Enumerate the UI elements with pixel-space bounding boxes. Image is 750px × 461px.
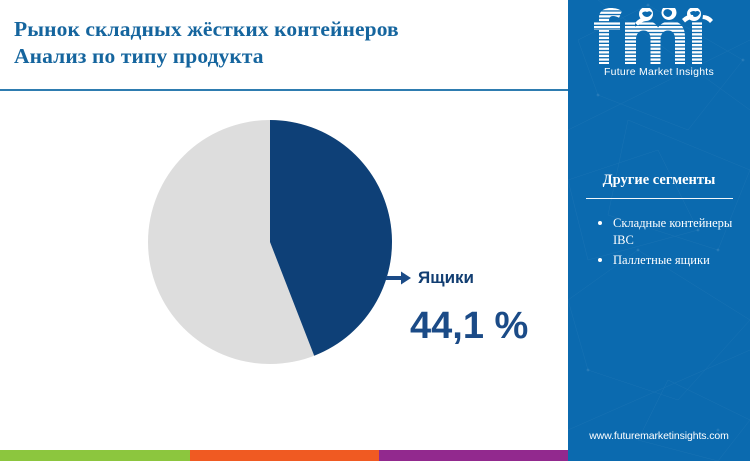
pie-chart-area: Ящики 44,1 % Ящики Все другие сегменты [0,100,568,430]
arrow-right-icon [386,270,412,286]
list-item: Паллетные ящики [598,252,740,269]
slide-canvas: Рынок складных жёстких контейнеров Анали… [0,0,750,461]
website-url[interactable]: www.futuremarketinsights.com [568,430,750,442]
pie-callout-value: 44,1 % [410,304,561,348]
pie-callout-row: Ящики [386,266,561,290]
page-title-line-1: Рынок складных жёстких контейнеров [14,16,554,43]
other-segments-title: Другие сегменты [568,172,750,189]
other-segments-block: Другие сегменты Складные контейнеры IBC … [568,172,750,272]
bottom-bar-segment-orange [190,450,379,461]
pie-chart [148,120,392,364]
side-panel: Future Market Insights Другие сегменты С… [568,0,750,461]
pie-chart-svg [148,120,392,364]
page-title-line-2: Анализ по типу продукта [14,43,554,70]
fmi-logo-tagline: Future Market Insights [568,66,750,78]
fmi-globes-logo-icon [594,8,724,64]
other-segments-list: Складные контейнеры IBC Паллетные ящики [598,215,740,269]
pie-callout: Ящики 44,1 % [386,266,561,348]
page-title: Рынок складных жёстких контейнеров Анали… [14,16,554,70]
pie-callout-label: Ящики [418,268,474,288]
other-segments-divider [586,198,733,199]
bottom-color-bar [0,450,568,461]
bottom-bar-segment-purple [379,450,568,461]
list-item: Складные контейнеры IBC [598,215,740,249]
title-divider [0,89,568,91]
fmi-logo[interactable]: Future Market Insights [568,8,750,78]
bottom-bar-segment-green [0,450,190,461]
